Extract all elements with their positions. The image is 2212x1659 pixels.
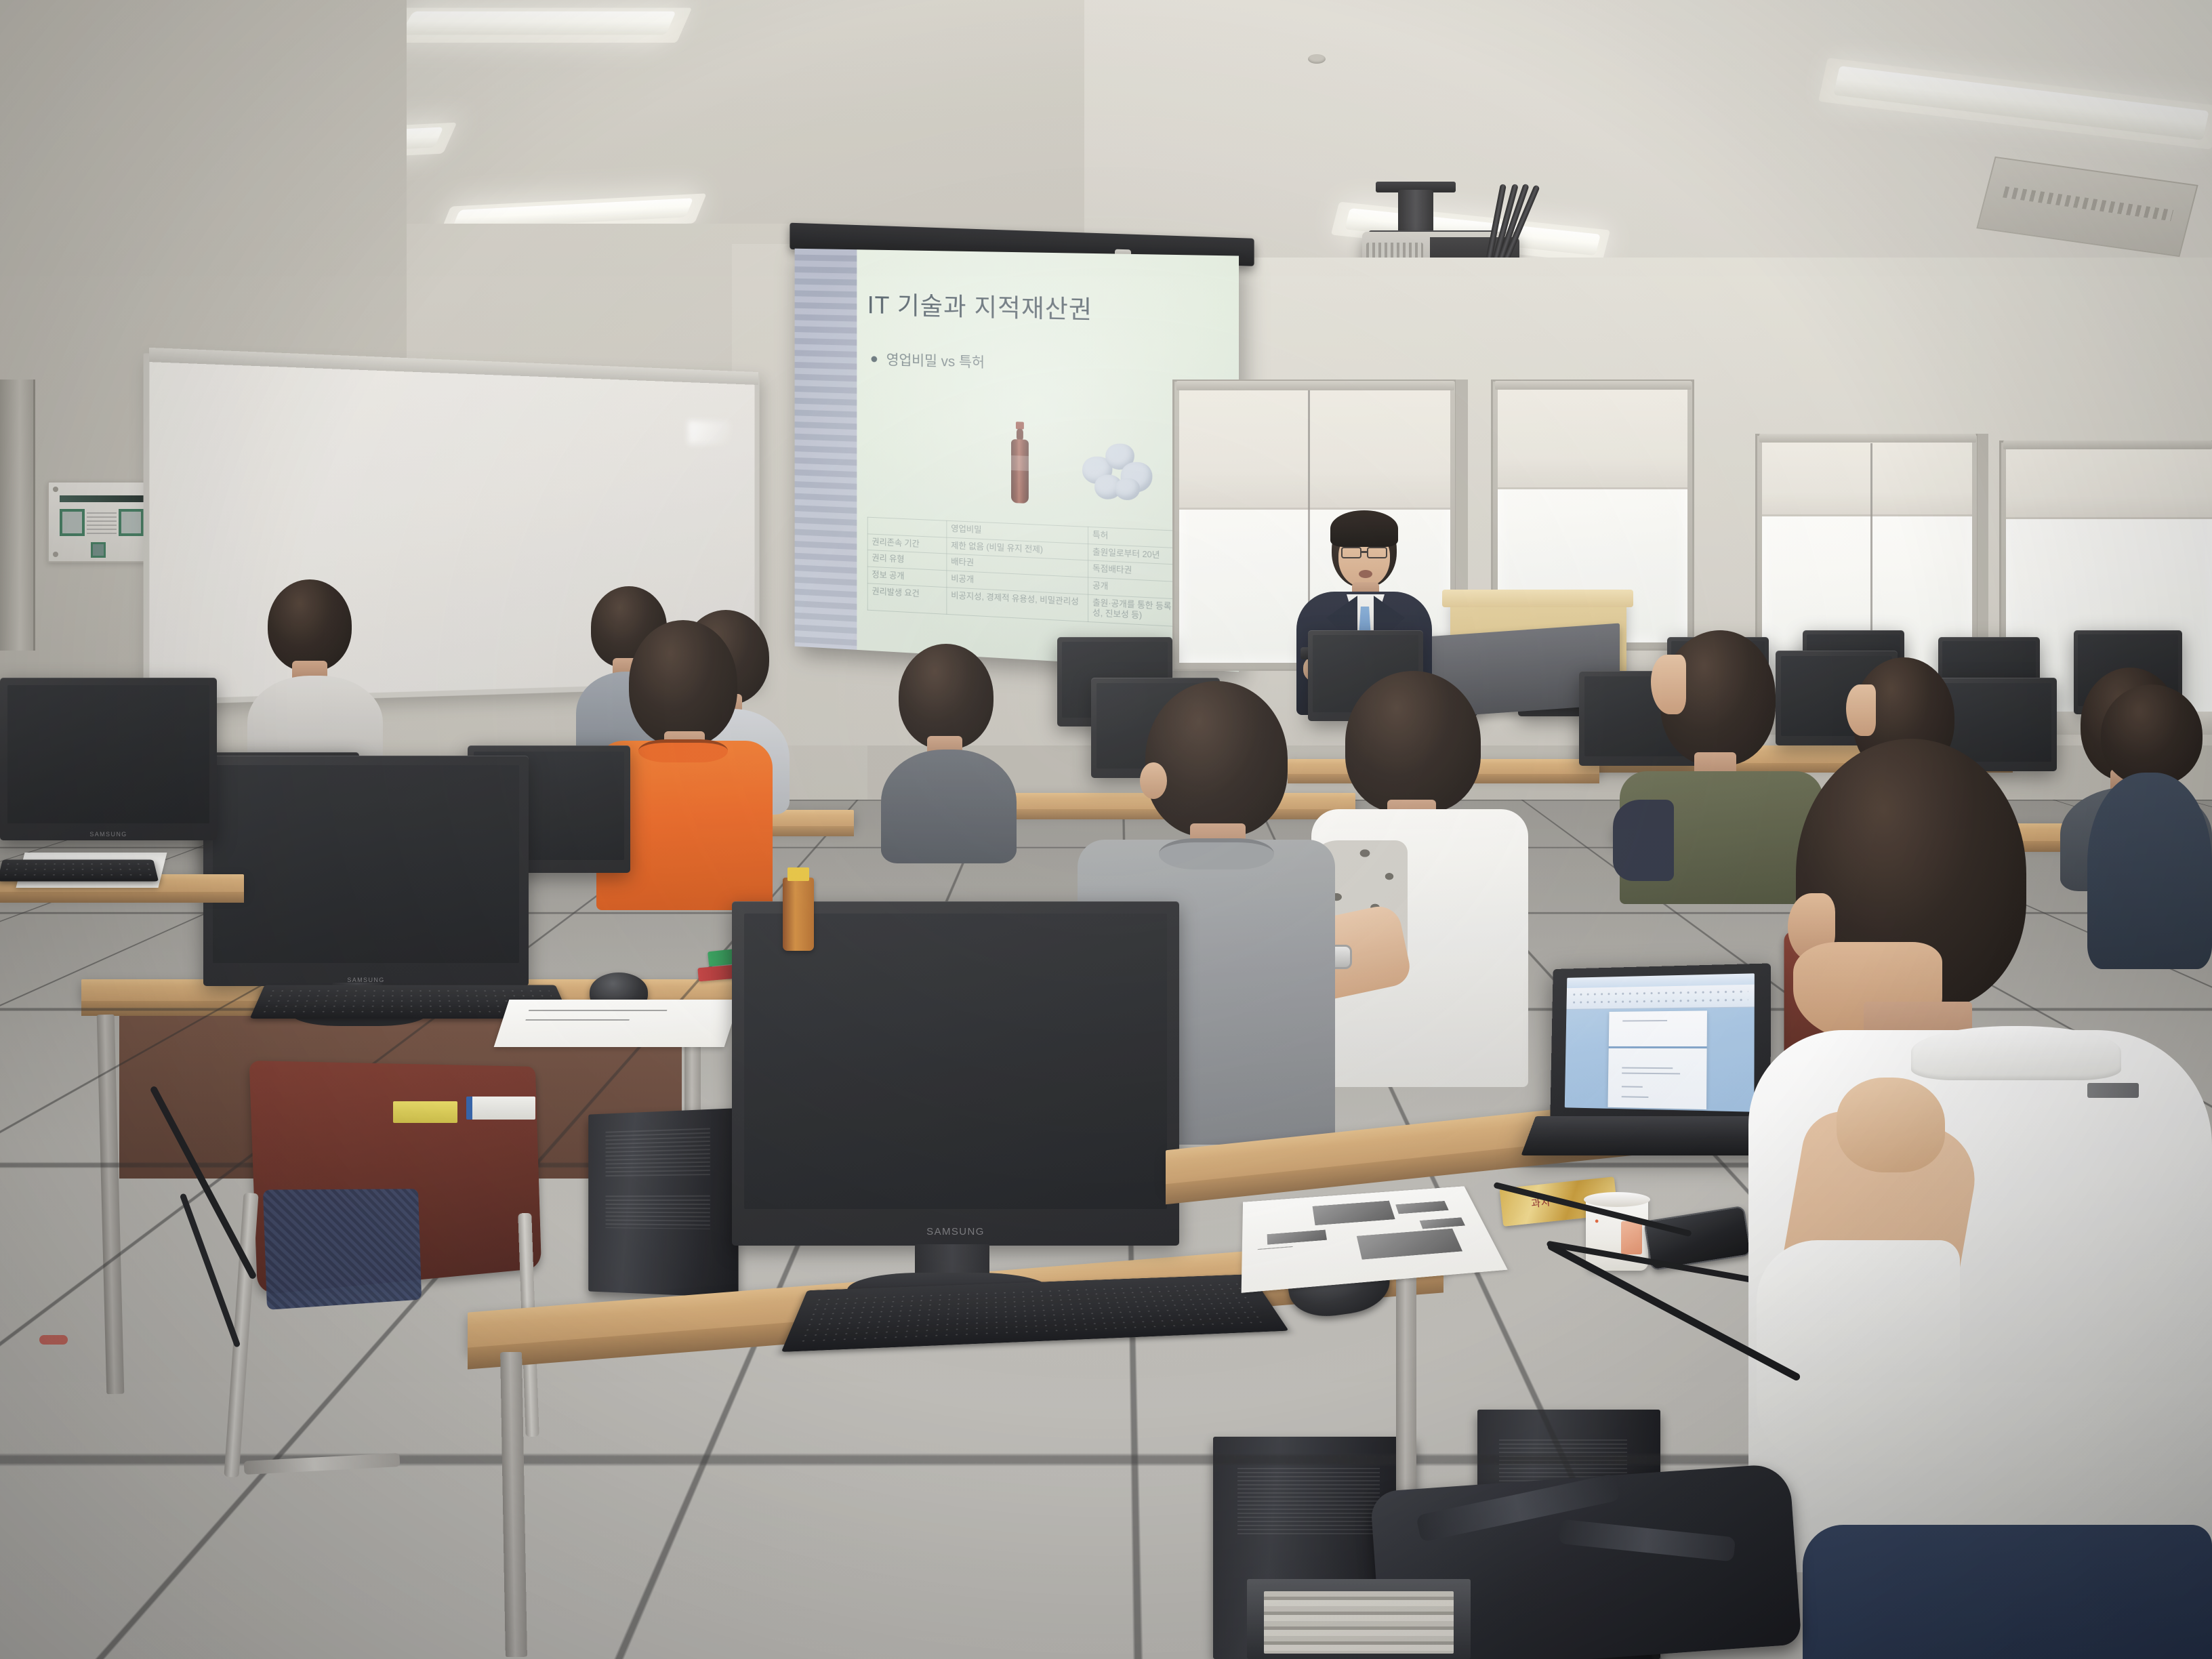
window-blind[interactable] bbox=[1762, 442, 1972, 516]
cup-graphic bbox=[1621, 1221, 1642, 1254]
blind-rail bbox=[2003, 441, 2212, 449]
placard-icon-right bbox=[119, 509, 144, 535]
instructor-glasses-icon bbox=[1341, 547, 1361, 558]
monitor-brand-logo: SAMSUNG bbox=[89, 831, 127, 838]
placard-screw bbox=[53, 552, 58, 557]
chair-asset-tag-barcode bbox=[466, 1097, 535, 1120]
student-sleeve bbox=[1613, 800, 1674, 881]
student-head bbox=[899, 644, 994, 750]
monitor: SAMSUNG bbox=[0, 678, 217, 840]
information-placard bbox=[47, 481, 156, 562]
bullet-dot-icon bbox=[872, 356, 878, 362]
bottle-label bbox=[1011, 455, 1029, 471]
monitor-left-foreground: SAMSUNG bbox=[203, 756, 529, 986]
student-head bbox=[1345, 671, 1481, 813]
instructor-hair bbox=[1330, 510, 1398, 547]
student-face-profile bbox=[1846, 684, 1876, 736]
cup-rim bbox=[1584, 1192, 1650, 1207]
slide-popcorn-image bbox=[1080, 441, 1155, 504]
instructor-mouth bbox=[1359, 570, 1372, 578]
polo-logo bbox=[2087, 1083, 2139, 1098]
monitor-foreground: SAMSUNG bbox=[732, 901, 1179, 1246]
chair-asset-tag-yellow bbox=[393, 1101, 457, 1123]
slide-sidebar-band bbox=[795, 249, 857, 650]
student-head bbox=[629, 620, 737, 746]
student-head bbox=[1145, 681, 1288, 837]
student-s1 bbox=[247, 579, 383, 776]
door-edge-panel[interactable] bbox=[0, 380, 35, 651]
blind-rail bbox=[1759, 434, 1976, 443]
window-blind[interactable] bbox=[1179, 388, 1450, 510]
placard-icon-left bbox=[60, 509, 85, 535]
whiteboard-glare bbox=[688, 421, 731, 445]
student-s12 bbox=[2087, 684, 2212, 969]
cup-logo: ● bbox=[1595, 1217, 1599, 1225]
student-hand bbox=[1837, 1078, 1945, 1172]
drink-bottle[interactable] bbox=[783, 878, 814, 951]
page-break-line bbox=[1609, 1046, 1706, 1048]
student-s5 bbox=[881, 644, 1017, 861]
blind-rail bbox=[1495, 381, 1692, 390]
slide-title: IT 기술과 지적재산권 bbox=[867, 285, 1092, 326]
monitor-brand-logo: SAMSUNG bbox=[926, 1226, 985, 1237]
shirt-collar bbox=[1159, 838, 1274, 869]
glasses-bridge bbox=[1361, 551, 1368, 553]
drink-bottle-cap bbox=[787, 867, 809, 881]
student-face-profile bbox=[1651, 655, 1686, 714]
instructor-glasses-icon bbox=[1367, 547, 1387, 558]
blind-cord[interactable] bbox=[1870, 443, 1872, 647]
chair-seat-pad bbox=[263, 1189, 422, 1310]
student-ear bbox=[1140, 762, 1167, 799]
keyboard[interactable] bbox=[0, 860, 159, 882]
polo-sleeve bbox=[1757, 1240, 1960, 1464]
paper-sheet bbox=[494, 1000, 740, 1047]
polo-collar bbox=[638, 739, 728, 762]
slide-comparison-table: 영업비밀 특허 권리존속 기간 제한 없음 (비밀 유지 전제) 출원일로부터 … bbox=[867, 517, 1219, 629]
slide-bullet-text: 영업비밀 vs 특허 bbox=[886, 349, 985, 372]
slide-bullet: 영업비밀 vs 특허 bbox=[872, 348, 985, 371]
polo-collar bbox=[1911, 1026, 2121, 1080]
window-blind[interactable] bbox=[2006, 449, 2212, 519]
bottle-body bbox=[1011, 439, 1029, 504]
student-torso bbox=[2087, 773, 2212, 969]
fluorescent-light bbox=[400, 12, 676, 35]
student-jeans bbox=[1803, 1525, 2212, 1659]
blind-rail bbox=[1176, 381, 1454, 390]
pc-tower bbox=[588, 1108, 738, 1298]
placard-text-lines bbox=[87, 512, 117, 534]
student-head bbox=[2101, 684, 2203, 786]
floor-debris bbox=[39, 1335, 68, 1345]
placard-screw bbox=[53, 487, 58, 492]
classroom-photo: IT 기술과 지적재산권 영업비밀 vs 특허 영업비밀 특허 bbox=[0, 0, 2212, 1659]
book-stack bbox=[1264, 1591, 1454, 1654]
student-torso bbox=[881, 750, 1017, 863]
window-blind[interactable] bbox=[1498, 388, 1687, 489]
slide-cola-bottle-image bbox=[1010, 422, 1029, 504]
placard-icon-bottom bbox=[91, 542, 106, 558]
student-head bbox=[268, 579, 352, 672]
podium-top bbox=[1442, 590, 1633, 607]
placard-header-bar bbox=[60, 495, 144, 502]
slide-cell: 권리발생 요건 bbox=[867, 583, 947, 614]
document-page bbox=[1608, 1011, 1707, 1109]
desk-edge bbox=[0, 892, 244, 903]
smoke-detector-icon bbox=[1308, 54, 1326, 64]
